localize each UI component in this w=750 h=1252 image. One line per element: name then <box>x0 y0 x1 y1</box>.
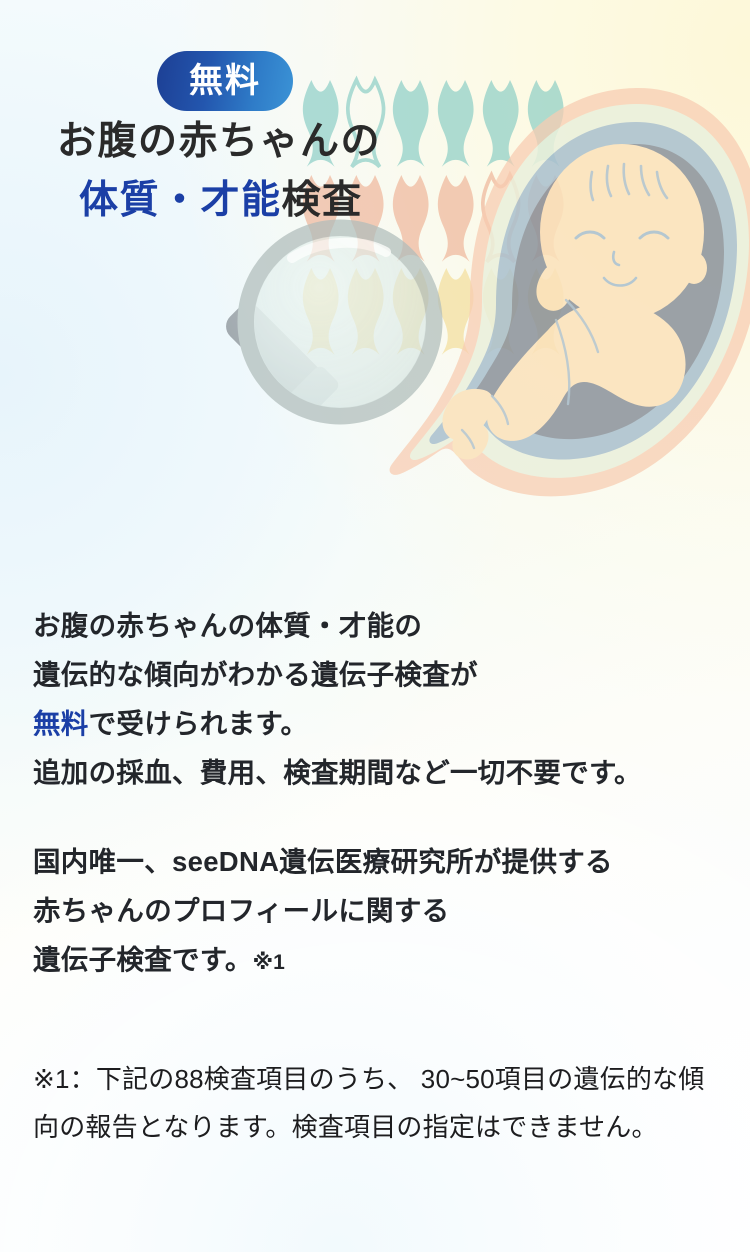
page-title-line-2: 体質・才能検査 <box>79 181 560 220</box>
body-line-text: で受けられます。 <box>89 708 309 739</box>
body-line: 遺伝的な傾向がわかる遺伝子検査が <box>33 650 723 699</box>
body-line-text: 遺伝子検査です。 <box>33 944 253 975</box>
promo-page: 無料 お腹の赤ちゃんの 体質・才能検査 お腹の赤ちゃんの体質・才能の 遺伝的な傾… <box>0 0 750 1252</box>
footnote-text: ※1：下記の88検査項目のうち、 30~50項目の遺伝的な傾向の報告となります。… <box>33 1055 723 1151</box>
body-line: 追加の採血、費用、検査期間など一切不要です。 <box>33 748 723 797</box>
page-title: お腹の赤ちゃんの 体質・才能検査 <box>0 122 560 220</box>
body-line: 遺伝子検査です。※1 <box>33 935 723 987</box>
free-badge: 無料 <box>157 51 293 111</box>
body-line: お腹の赤ちゃんの体質・才能の <box>33 601 723 650</box>
body-line: 無料で受けられます。 <box>33 699 723 748</box>
page-title-line-1: お腹の赤ちゃんの <box>57 122 560 161</box>
body-paragraph-2: 国内唯一、seeDNA遺伝医療研究所が提供する 赤ちゃんのプロフィールに関する … <box>33 837 723 987</box>
free-badge-label: 無料 <box>189 64 261 98</box>
page-title-suffix: 検査 <box>282 179 363 222</box>
page-title-highlight: 体質・才能 <box>79 179 282 222</box>
body-line: 赤ちゃんのプロフィールに関する <box>33 886 723 935</box>
hero-illustration <box>0 0 750 560</box>
body-paragraph-1: お腹の赤ちゃんの体質・才能の 遺伝的な傾向がわかる遺伝子検査が 無料で受けられま… <box>33 601 723 797</box>
magnifier-icon <box>217 228 434 419</box>
body-highlight-free: 無料 <box>33 708 89 739</box>
body-line: 国内唯一、seeDNA遺伝医療研究所が提供する <box>33 837 723 886</box>
footnote-marker: ※1 <box>253 951 285 974</box>
